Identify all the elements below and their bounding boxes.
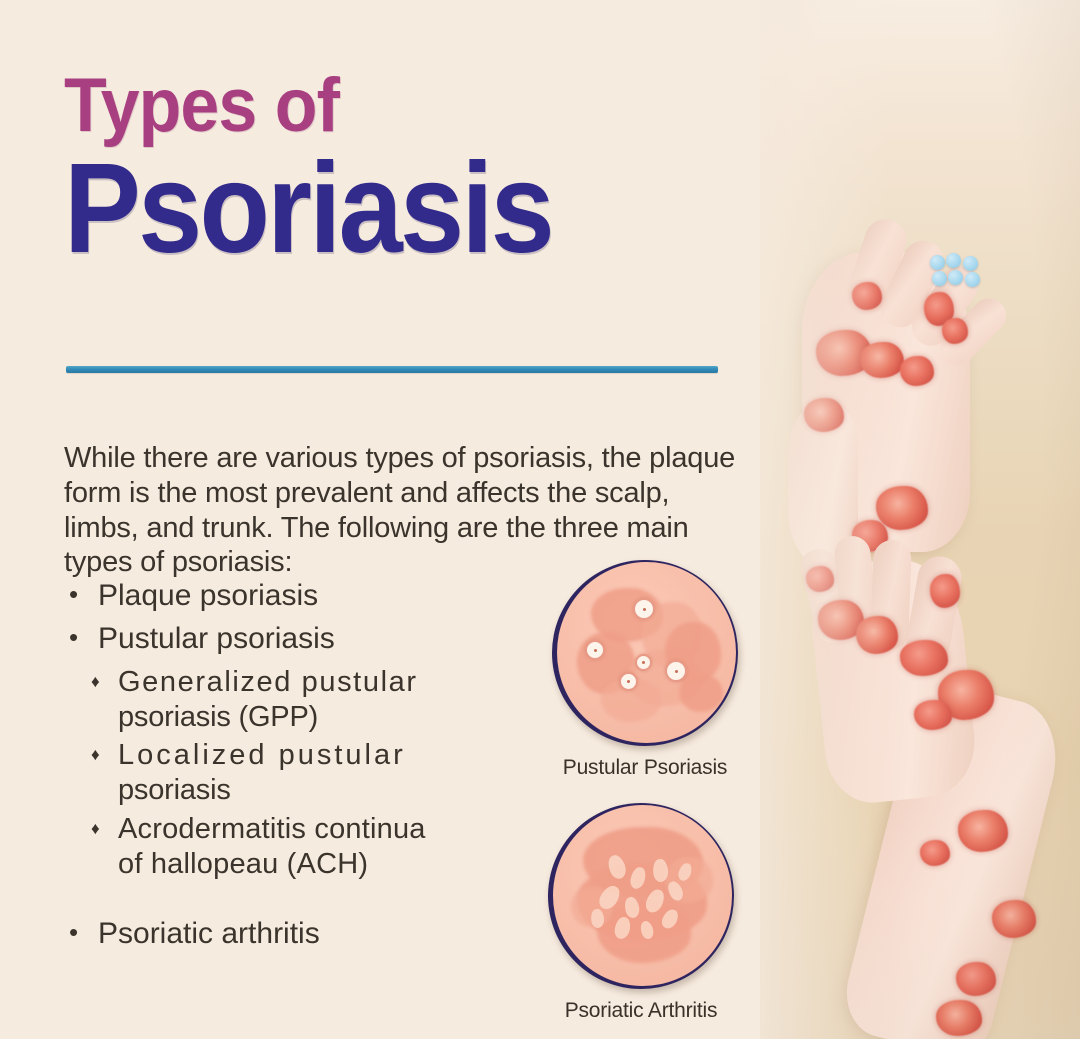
list-item-label: Pustular psoriasis [98,621,534,656]
figure-caption: Psoriatic Arthritis [548,999,734,1023]
title-main: Psoriasis [64,150,694,268]
lesion-patch [856,616,898,654]
lesion-patch [852,282,882,310]
list-item: ♦ Acrodermatitis continua of hallopeau (… [64,812,534,882]
bullet-diamond-icon: ♦ [88,812,118,845]
list-item-line1: Localized pustular [118,739,406,771]
lesion-patch [958,810,1008,852]
pustule [619,672,638,691]
bullet-diamond-icon: ♦ [88,665,118,698]
bullet-diamond-icon: ♦ [88,738,118,771]
list-item-line1: Generalized pustular [118,666,418,698]
tablet-pill [930,255,945,270]
figure-psoriatic-arthritis: Psoriatic Arthritis [548,803,734,1023]
bullet-dot-icon: • [64,621,98,654]
disc-arthritis [548,803,734,989]
list-item: • Pustular psoriasis [64,621,534,656]
pustule [665,660,687,682]
psoriasis-type-list: • Plaque psoriasis • Pustular psoriasis … [64,578,534,959]
pustule [635,654,652,671]
tablet-pill [932,271,947,286]
lesion-patch [930,574,960,608]
list-item-label: Plaque psoriasis [98,578,534,613]
title-underline-rule [66,366,718,373]
page-title: Types of Psoriasis [64,70,764,268]
lesion-patch [876,486,928,530]
lesion-patch [900,356,934,386]
lesion-patch [936,1000,982,1036]
list-item-label: Acrodermatitis continua of hallopeau (AC… [118,812,534,882]
list-item-line2: psoriasis [118,774,231,806]
title-kicker: Types of [64,70,708,142]
pustule [585,640,605,660]
disc-pustular [552,560,738,746]
tablet-pill [946,253,961,268]
lesion-patch [956,962,996,996]
infographic-poster: Types of Psoriasis While there are vario… [0,0,1080,1039]
lesion-patch [914,700,952,730]
tablet-pill [948,270,963,285]
list-item-line2: of hallopeau (ACH) [118,848,368,880]
lesion-patch [942,318,968,344]
bullet-dot-icon: • [64,578,98,611]
list-item: ♦ Localized pustular psoriasis [64,738,534,808]
psoriasis-photo [760,0,1080,1039]
lesion-patch [992,900,1036,938]
tablet-pill [965,272,980,287]
list-item-line2: psoriasis (GPP) [118,701,318,733]
list-item-label: Psoriatic arthritis [98,916,534,951]
list-item: • Psoriatic arthritis [64,916,534,951]
plaque-blob [679,674,723,712]
list-item: ♦ Generalized pustular psoriasis (GPP) [64,665,534,735]
list-item-label: Generalized pustular psoriasis (GPP) [118,665,534,735]
list-spacer [64,886,534,916]
pustule [633,598,655,620]
lesion-patch [920,840,950,866]
list-item: • Plaque psoriasis [64,578,534,613]
list-item-label: Localized pustular psoriasis [118,738,534,808]
list-item-line1: Acrodermatitis continua [118,813,426,845]
figure-pustular-psoriasis: Pustular Psoriasis [552,560,738,780]
disc-skin-surface [557,562,736,743]
figure-caption: Pustular Psoriasis [552,756,738,780]
disc-skin-surface [553,805,732,986]
lesion-patch [900,640,948,676]
tablet-pill [963,256,978,271]
lesion-patch [806,566,834,592]
lesion-patch [804,398,844,432]
lesion-patch [860,342,904,378]
bullet-dot-icon: • [64,916,98,949]
